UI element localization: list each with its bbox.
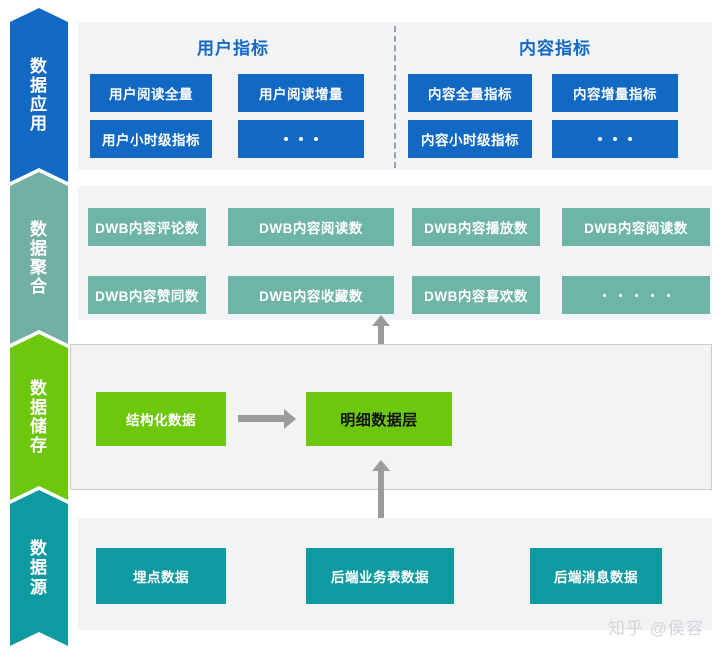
- source-box-backend-message-data[interactable]: 后端消息数据: [530, 548, 662, 604]
- dwb-box-read-count[interactable]: DWB内容阅读数: [228, 208, 394, 246]
- ellipsis-dots-dwb: [603, 294, 670, 297]
- layer-chevron-source-label: 数据源: [28, 539, 50, 596]
- layer-chevron-storage-label: 数据储存: [28, 379, 50, 455]
- layer-chevron-aggregation-label: 数据聚合: [28, 220, 50, 296]
- dwb-box-play-count[interactable]: DWB内容播放数: [412, 208, 540, 246]
- arrow-structured-to-detail: [238, 409, 296, 429]
- dwb-box-comment-count[interactable]: DWB内容评论数: [88, 208, 206, 246]
- group-title-user-metrics: 用户指标: [78, 34, 388, 59]
- application-group-divider: [394, 26, 396, 168]
- metric-box-user-read-total[interactable]: 用户阅读全量: [90, 74, 212, 112]
- layer-chevron-application[interactable]: 数据应用: [10, 8, 68, 182]
- metric-box-user-hourly[interactable]: 用户小时级指标: [90, 120, 212, 158]
- diagram-canvas: 数据应用 数据聚合 数据储存 数据源 用户指标 内容指标 用户阅读全量 用户阅读…: [0, 0, 720, 649]
- metric-box-content-increment[interactable]: 内容增量指标: [552, 74, 678, 112]
- dwb-box-read-count-2[interactable]: DWB内容阅读数: [562, 208, 710, 246]
- source-box-tracking-data[interactable]: 埋点数据: [96, 548, 226, 604]
- dwb-box-more[interactable]: [562, 276, 710, 314]
- layer-chevron-source[interactable]: 数据源: [10, 490, 68, 646]
- arrow-head-right-icon: [284, 409, 296, 429]
- group-title-content-metrics: 内容指标: [400, 34, 710, 59]
- watermark: 知乎 @侯容: [608, 614, 704, 639]
- metric-box-content-hourly[interactable]: 内容小时级指标: [408, 120, 532, 158]
- metric-box-user-read-increment[interactable]: 用户阅读增量: [238, 74, 364, 112]
- storage-box-detail-layer[interactable]: 明细数据层: [306, 392, 452, 446]
- arrow-shaft-horizontal: [238, 415, 285, 422]
- metric-box-user-more[interactable]: [238, 120, 364, 158]
- ellipsis-dots-user: [284, 137, 318, 141]
- layer-chevron-aggregation[interactable]: 数据聚合: [10, 172, 68, 344]
- dwb-box-upvote-count[interactable]: DWB内容赞同数: [88, 276, 206, 314]
- metric-box-content-total[interactable]: 内容全量指标: [408, 74, 532, 112]
- layer-rail: 数据应用 数据聚合 数据储存 数据源: [0, 0, 72, 649]
- ellipsis-dots-content: [598, 137, 632, 141]
- layer-chevron-application-label: 数据应用: [28, 57, 50, 133]
- dwb-box-favorite-count[interactable]: DWB内容收藏数: [228, 276, 394, 314]
- dwb-box-like-count[interactable]: DWB内容喜欢数: [412, 276, 540, 314]
- layer-chevron-storage[interactable]: 数据储存: [10, 334, 68, 500]
- storage-box-structured-data[interactable]: 结构化数据: [96, 392, 226, 446]
- metric-box-content-more[interactable]: [552, 120, 678, 158]
- source-box-backend-business-table-data[interactable]: 后端业务表数据: [306, 548, 454, 604]
